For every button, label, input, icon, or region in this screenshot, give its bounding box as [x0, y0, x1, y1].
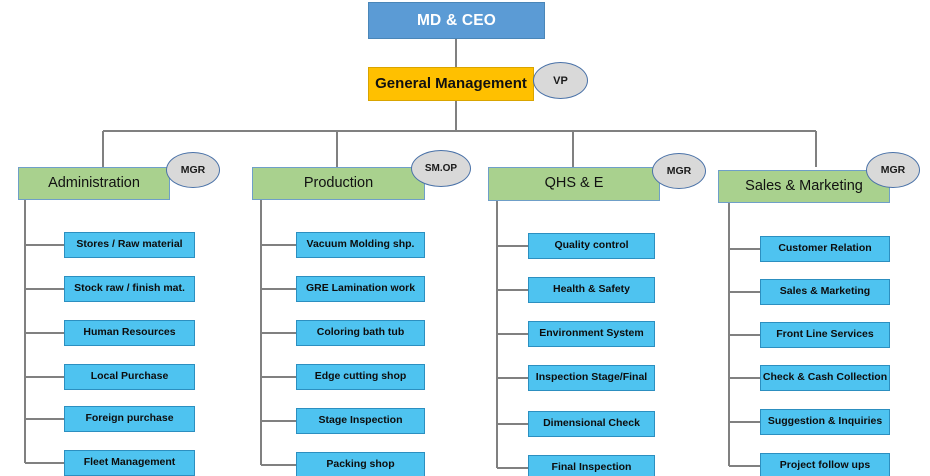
- leaf-label: Health & Safety: [553, 284, 630, 296]
- leaf-label: Foreign purchase: [85, 413, 173, 425]
- node-label: Administration: [48, 176, 140, 192]
- leaf-label: Check & Cash Collection: [763, 372, 887, 384]
- node-general-management[interactable]: General Management: [368, 67, 534, 101]
- leaf-label: Stores / Raw material: [76, 239, 182, 251]
- badge-label: VP: [553, 75, 568, 87]
- leaf-node[interactable]: Stores / Raw material: [64, 232, 195, 258]
- badge-vp: VP: [533, 62, 588, 99]
- badge-label: MGR: [881, 164, 906, 176]
- node-label: General Management: [375, 76, 527, 93]
- leaf-label: Front Line Services: [776, 329, 873, 341]
- leaf-label: Inspection Stage/Final: [536, 372, 647, 384]
- leaf-node[interactable]: Coloring bath tub: [296, 320, 425, 346]
- leaf-node[interactable]: Customer Relation: [760, 236, 890, 262]
- badge-mgr-administration: MGR: [166, 152, 220, 188]
- leaf-label: Customer Relation: [778, 243, 871, 255]
- leaf-node[interactable]: Edge cutting shop: [296, 364, 425, 390]
- leaf-node[interactable]: Fleet Management: [64, 450, 195, 476]
- leaf-node[interactable]: Stock raw / finish mat.: [64, 276, 195, 302]
- leaf-label: Final Inspection: [552, 462, 632, 474]
- leaf-label: Environment System: [539, 328, 643, 340]
- leaf-label: Dimensional Check: [543, 418, 640, 430]
- node-label: Sales & Marketing: [745, 179, 863, 195]
- leaf-node[interactable]: Quality control: [528, 233, 655, 259]
- node-label: MD & CEO: [417, 12, 496, 29]
- badge-label: MGR: [181, 164, 206, 176]
- node-label: QHS & E: [545, 176, 604, 192]
- leaf-node[interactable]: Environment System: [528, 321, 655, 347]
- leaf-label: Quality control: [554, 240, 628, 252]
- badge-mgr-qhse: MGR: [652, 153, 706, 189]
- leaf-node[interactable]: Project follow ups: [760, 453, 890, 476]
- leaf-node[interactable]: Foreign purchase: [64, 406, 195, 432]
- leaf-node[interactable]: Local Purchase: [64, 364, 195, 390]
- leaf-label: Local Purchase: [91, 371, 169, 383]
- node-department-administration[interactable]: Administration: [18, 167, 170, 200]
- leaf-label: Suggestion & Inquiries: [768, 416, 882, 428]
- node-department-sales-marketing[interactable]: Sales & Marketing: [718, 170, 890, 203]
- leaf-label: Sales & Marketing: [780, 286, 870, 298]
- leaf-node[interactable]: Final Inspection: [528, 455, 655, 476]
- leaf-node[interactable]: Human Resources: [64, 320, 195, 346]
- leaf-node[interactable]: Check & Cash Collection: [760, 365, 890, 391]
- leaf-node[interactable]: Health & Safety: [528, 277, 655, 303]
- leaf-node[interactable]: Packing shop: [296, 452, 425, 476]
- node-department-production[interactable]: Production: [252, 167, 425, 200]
- leaf-label: Stock raw / finish mat.: [74, 283, 185, 295]
- leaf-label: Coloring bath tub: [317, 327, 404, 339]
- leaf-node[interactable]: Front Line Services: [760, 322, 890, 348]
- badge-label: SM.OP: [425, 163, 457, 174]
- leaf-node[interactable]: Dimensional Check: [528, 411, 655, 437]
- leaf-node[interactable]: Stage Inspection: [296, 408, 425, 434]
- leaf-label: Vacuum Molding shp.: [307, 239, 415, 251]
- leaf-label: Packing shop: [326, 459, 394, 471]
- badge-mgr-sales-marketing: MGR: [866, 152, 920, 188]
- org-chart: MD & CEO General Management VP Administr…: [0, 0, 930, 476]
- leaf-label: Human Resources: [83, 327, 175, 339]
- leaf-node[interactable]: Inspection Stage/Final: [528, 365, 655, 391]
- leaf-label: GRE Lamination work: [306, 283, 415, 295]
- leaf-label: Edge cutting shop: [315, 371, 407, 383]
- leaf-label: Fleet Management: [84, 457, 176, 469]
- badge-smop-production: SM.OP: [411, 150, 471, 187]
- node-md-ceo[interactable]: MD & CEO: [368, 2, 545, 39]
- node-department-qhse[interactable]: QHS & E: [488, 167, 660, 201]
- leaf-label: Project follow ups: [780, 460, 870, 472]
- leaf-node[interactable]: Sales & Marketing: [760, 279, 890, 305]
- leaf-label: Stage Inspection: [318, 415, 402, 427]
- node-label: Production: [304, 176, 373, 192]
- leaf-node[interactable]: Suggestion & Inquiries: [760, 409, 890, 435]
- badge-label: MGR: [667, 165, 692, 177]
- leaf-node[interactable]: GRE Lamination work: [296, 276, 425, 302]
- leaf-node[interactable]: Vacuum Molding shp.: [296, 232, 425, 258]
